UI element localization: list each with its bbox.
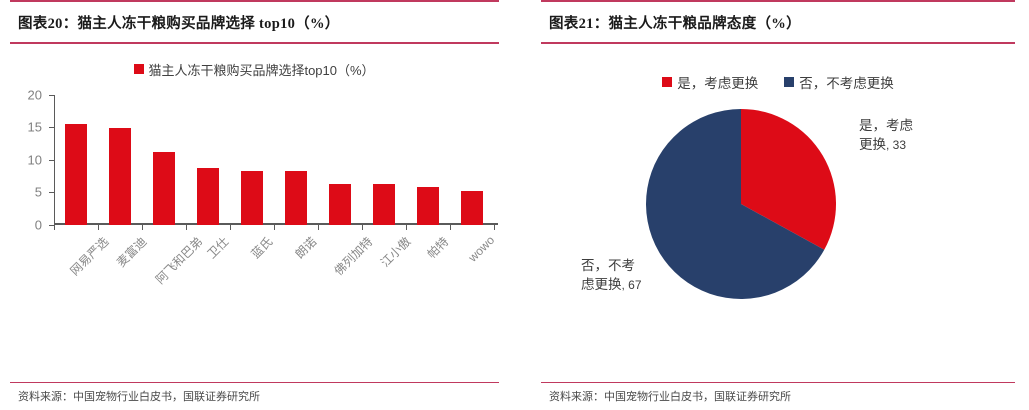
x-label-cell: 佛列加特 xyxy=(318,231,362,321)
pie-callout-yes-line1: 是，考虑 xyxy=(859,116,913,136)
bar-legend-label: 猫主人冻干粮购买品牌选择top10（%） xyxy=(148,60,374,79)
figure-20-source-text: 资料来源：中国宠物行业白皮书，国联证券研究所 xyxy=(10,383,499,404)
x-axis-label: 卫仕 xyxy=(203,233,232,262)
y-tick-label-10: 10 xyxy=(28,152,42,167)
bar xyxy=(285,171,308,224)
pie-callout-yes-value-sep: , xyxy=(886,138,893,152)
bar xyxy=(197,168,220,225)
y-tick-label-20: 20 xyxy=(28,87,42,102)
legend-swatch-icon xyxy=(662,77,672,87)
x-label-cell: wowo xyxy=(450,231,494,321)
x-label-cell: 卫仕 xyxy=(186,231,230,321)
figure-20-title: 图表20：猫主人冻干粮购买品牌选择 top10（%） xyxy=(10,2,499,42)
pie-callout-yes-value: 33 xyxy=(893,138,906,152)
pie-graphic xyxy=(641,104,841,304)
bar xyxy=(461,191,484,224)
bar-cell xyxy=(98,95,142,225)
x-label-cell: 麦富迪 xyxy=(98,231,142,321)
figure-21-panel: 图表21：猫主人冻干粮品牌态度（%） 是，考虑更换 否，不考虑更换 xyxy=(513,0,1029,410)
x-axis-label: 帕特 xyxy=(423,233,452,262)
bar-chart: 猫主人冻干粮购买品牌选择top10（%） 0 5 10 15 xyxy=(10,44,499,344)
pie-callout-no-value: 67 xyxy=(628,278,641,292)
bar-plot-area: 0 5 10 15 20 xyxy=(54,95,494,225)
bar-cell xyxy=(450,95,494,225)
bar-plot-wrapper: 0 5 10 15 20 xyxy=(10,89,499,324)
pie-legend-label-no: 否，不考虑更换 xyxy=(799,72,894,92)
bar-cell xyxy=(274,95,318,225)
pie-callout-yes-line2: 更换 xyxy=(859,137,886,152)
pie-chart: 是，考虑更换 否，不考虑更换 是，考虑 更换, 33 xyxy=(541,44,1015,344)
y-tick-label-0: 0 xyxy=(35,217,42,232)
x-label-cell: 蓝氏 xyxy=(230,231,274,321)
x-label-cell: 阿飞和巴弟 xyxy=(142,231,186,321)
x-axis-label: 蓝氏 xyxy=(247,233,276,262)
x-label-cell: 朗诺 xyxy=(274,231,318,321)
x-tick xyxy=(230,225,231,230)
x-tick xyxy=(318,225,319,230)
bar xyxy=(109,128,132,224)
bar-chart-legend: 猫主人冻干粮购买品牌选择top10（%） xyxy=(10,44,499,79)
bar-cell xyxy=(406,95,450,225)
y-tick-label-5: 5 xyxy=(35,185,42,200)
figures-page: 图表20：猫主人冻干粮购买品牌选择 top10（%） 猫主人冻干粮购买品牌选择t… xyxy=(0,0,1029,410)
legend-swatch-icon xyxy=(134,64,144,74)
bar-cell xyxy=(186,95,230,225)
x-tick xyxy=(54,225,55,230)
y-tick-label-15: 15 xyxy=(28,120,42,135)
bar-series xyxy=(54,95,494,225)
bar-cell xyxy=(362,95,406,225)
bar-cell xyxy=(142,95,186,225)
x-tick xyxy=(142,225,143,230)
pie-callout-no-line1: 否，不考 xyxy=(581,256,642,276)
legend-swatch-icon xyxy=(784,77,794,87)
pie-callout-yes-line2-wrap: 更换, 33 xyxy=(859,135,913,155)
x-tick xyxy=(494,225,495,230)
x-tick xyxy=(406,225,407,230)
x-tick xyxy=(274,225,275,230)
pie-callout-no-line2: 虑更换 xyxy=(581,277,622,292)
pie-callout-no-line2-wrap: 虑更换, 67 xyxy=(581,275,642,295)
pie-callout-no: 否，不考 虑更换, 67 xyxy=(581,256,642,295)
figure-21-title: 图表21：猫主人冻干粮品牌态度（%） xyxy=(541,2,1015,42)
x-tick xyxy=(98,225,99,230)
x-axis-labels: 网易严选麦富迪阿飞和巴弟卫仕蓝氏朗诺佛列加特江小傲帕特wowo xyxy=(54,231,494,321)
bar-cell xyxy=(318,95,362,225)
x-label-cell: 网易严选 xyxy=(54,231,98,321)
bar-cell xyxy=(54,95,98,225)
bar xyxy=(65,124,88,224)
x-label-cell: 帕特 xyxy=(406,231,450,321)
x-label-cell: 江小傲 xyxy=(362,231,406,321)
pie-legend-item-yes: 是，考虑更换 xyxy=(662,72,758,92)
bar xyxy=(373,184,396,225)
pie-chart-legend: 是，考虑更换 否，不考虑更换 xyxy=(541,44,1015,92)
x-axis-label: 朗诺 xyxy=(291,233,320,262)
pie-callout-yes: 是，考虑 更换, 33 xyxy=(859,116,913,155)
figure-20-panel: 图表20：猫主人冻干粮购买品牌选择 top10（%） 猫主人冻干粮购买品牌选择t… xyxy=(0,0,513,410)
pie-legend-item-no: 否，不考虑更换 xyxy=(784,72,894,92)
bar xyxy=(329,184,352,225)
bar xyxy=(153,152,176,225)
x-tick xyxy=(186,225,187,230)
figure-20-source-block: 资料来源：中国宠物行业白皮书，国联证券研究所 xyxy=(10,382,499,405)
pie-legend-label-yes: 是，考虑更换 xyxy=(677,72,758,92)
x-axis-label: wowo xyxy=(466,233,498,265)
bar xyxy=(241,171,264,224)
figure-21-source-text: 资料来源：中国宠物行业白皮书，国联证券研究所 xyxy=(541,383,1015,404)
bar xyxy=(417,187,440,224)
bar-cell xyxy=(230,95,274,225)
pie-plot-wrapper: 是，考虑 更换, 33 否，不考 虑更换, 67 xyxy=(541,98,1015,328)
figure-21-source-block: 资料来源：中国宠物行业白皮书，国联证券研究所 xyxy=(541,382,1015,405)
x-tick xyxy=(450,225,451,230)
x-tick xyxy=(362,225,363,230)
